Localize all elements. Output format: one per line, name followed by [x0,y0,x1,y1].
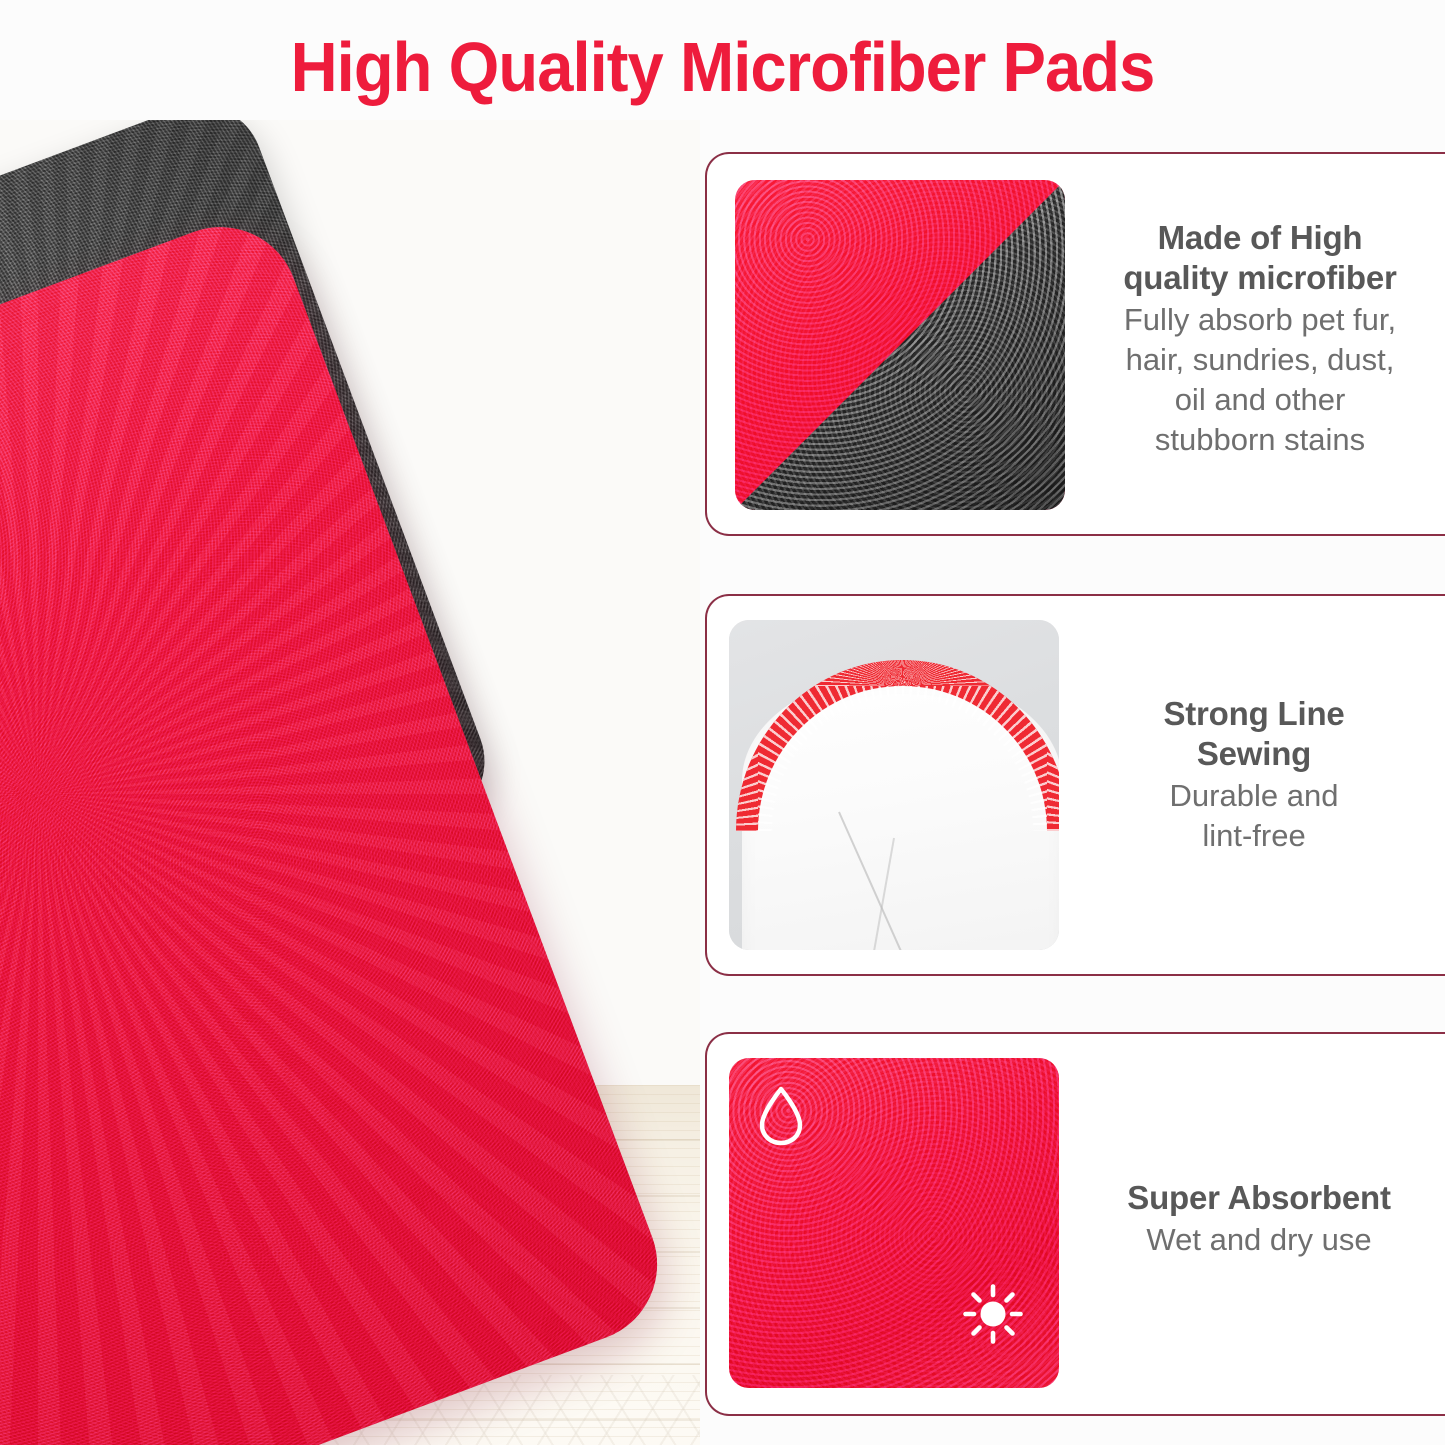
feature-heading-line-2: quality microfiber [1085,258,1435,298]
feature-body-line-1: Fully absorb pet fur, [1085,300,1435,340]
feature-image-stitched-corner [729,620,1059,950]
pad-crease-line-2 [865,837,894,950]
sun-icon [963,1284,1023,1344]
feature-body-line-2: hair, sundries, dust, [1085,340,1435,380]
feature-body-line-1: Durable and [1079,776,1429,816]
feature-text-block: Made of High quality microfiber Fully ab… [1085,218,1435,460]
infographic-page: High Quality Microfiber Pads Made of Hig… [0,0,1445,1445]
feature-heading-line-1: Strong Line [1079,694,1429,734]
hero-product-photo [0,120,700,1445]
feature-heading-line-1: Super Absorbent [1079,1178,1439,1218]
feature-card-made-of-high-quality-microfiber: Made of High quality microfiber Fully ab… [705,152,1445,536]
feature-heading: Super Absorbent [1079,1178,1439,1218]
feature-image-microfiber-split [735,180,1065,510]
feature-body: Fully absorb pet fur, hair, sundries, du… [1085,300,1435,460]
feature-body-line-1: Wet and dry use [1079,1220,1439,1260]
page-title: High Quality Microfiber Pads [51,28,1395,106]
feature-card-super-absorbent: Super Absorbent Wet and dry use [705,1032,1445,1416]
water-drop-icon [755,1084,807,1146]
feature-body-line-3: oil and other [1085,380,1435,420]
feature-heading-line-1: Made of High [1085,218,1435,258]
feature-body-line-2: lint-free [1079,816,1429,856]
feature-image-red-microfiber [729,1058,1059,1388]
feature-body: Wet and dry use [1079,1220,1439,1260]
feature-heading-line-2: Sewing [1079,734,1429,774]
feature-text-block: Strong Line Sewing Durable and lint-free [1079,694,1429,856]
feature-heading: Strong Line Sewing [1079,694,1429,774]
feature-card-strong-line-sewing: Strong Line Sewing Durable and lint-free [705,594,1445,976]
feature-body-line-4: stubborn stains [1085,420,1435,460]
microfiber-split-image [735,180,1065,510]
feature-body: Durable and lint-free [1079,776,1429,856]
feature-text-block: Super Absorbent Wet and dry use [1079,1178,1439,1260]
feature-heading: Made of High quality microfiber [1085,218,1435,298]
